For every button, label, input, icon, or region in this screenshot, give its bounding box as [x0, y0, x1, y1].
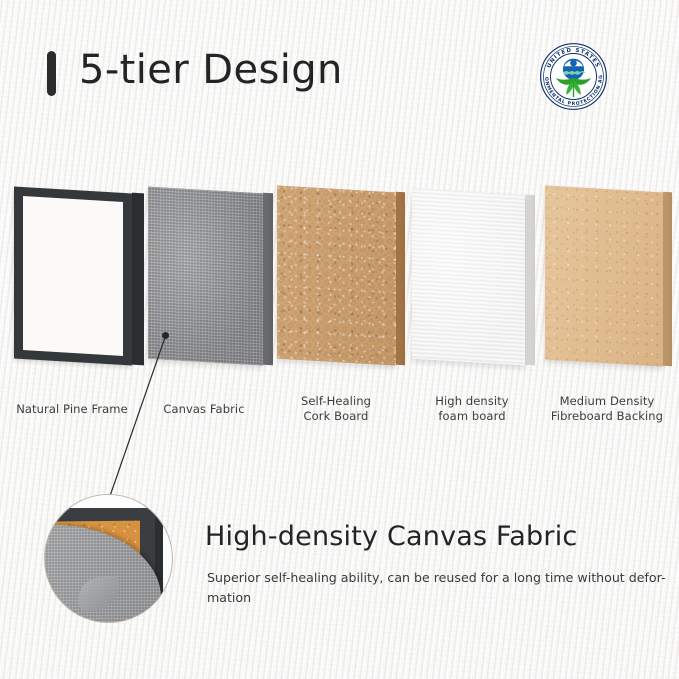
frame-inner-opening [23, 196, 123, 356]
detail-body: Superior self-healing ability, can be re… [207, 568, 669, 608]
magnified-canvas-detail [44, 494, 173, 623]
foam-face [412, 189, 525, 366]
tier-label-line: Fibreboard Backing [538, 409, 676, 424]
detail-body-line: mation [207, 588, 669, 608]
frame-outer [14, 186, 132, 365]
mdf-face [545, 185, 663, 366]
tier-label-line: Self-Healing [272, 394, 400, 409]
tier-label-line: Medium Density [538, 394, 676, 409]
tier-label-cork-board: Self-Healing Cork Board [272, 394, 400, 424]
title-accent-bar [47, 51, 56, 96]
tier-label-line: Cork Board [272, 409, 400, 424]
detail-body-line: Superior self-healing ability, can be re… [207, 568, 669, 588]
cork-face [277, 185, 396, 365]
detail-background-right [163, 495, 173, 622]
cork-side-edge [396, 192, 405, 366]
mdf-side-edge [663, 192, 672, 367]
detail-title: High-density Canvas Fabric [205, 521, 577, 552]
epa-seal-icon: UNITED STATES ENVIRONMENTAL PROTECTION A… [537, 40, 610, 113]
tier-label-mdf-backing: Medium Density Fibreboard Backing [538, 394, 676, 424]
infographic-page: 5-tier Design UNITED STATES ENVIRONMENTA… [0, 0, 679, 679]
foam-side-edge [525, 195, 535, 366]
canvas-side-edge [263, 193, 273, 366]
page-title: 5-tier Design [79, 47, 343, 93]
detail-background-top [45, 495, 172, 508]
tier-label-line: Natural Pine Frame [7, 402, 137, 417]
tier-label-line: High density [408, 394, 536, 409]
tier-label-foam-board: High density foam board [408, 394, 536, 424]
tier-label-line: foam board [408, 409, 536, 424]
tier-label-natural-pine-frame: Natural Pine Frame [7, 402, 137, 417]
detail-fabric-curl [79, 577, 119, 611]
callout-anchor-dot [162, 332, 169, 339]
tier-panel-natural-pine-frame [14, 190, 146, 368]
frame-side-edge [132, 193, 144, 366]
tier-label-canvas-fabric: Canvas Fabric [140, 402, 268, 417]
tier-label-line: Canvas Fabric [140, 402, 268, 417]
